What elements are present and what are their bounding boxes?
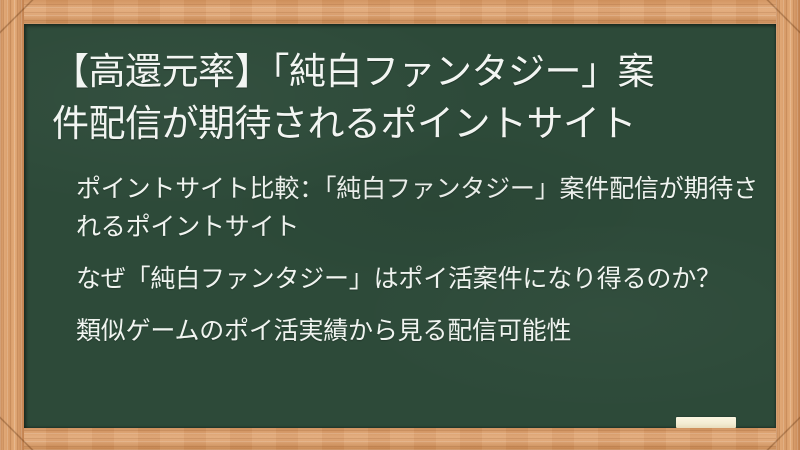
chalkboard-slide: 【高還元率】「純白ファンタジー」案 件配信が期待されるポイントサイト ポイントサ… (0, 0, 800, 450)
list-item: 類似ゲームのポイ活実績から見る配信可能性 (76, 312, 768, 350)
list-item: ポイントサイト比較：「純白ファンタジー」案件配信が期待されるポイントサイト (76, 170, 768, 246)
chalk-eraser (676, 417, 736, 428)
frame-left-rail (0, 0, 24, 450)
slide-outline-list: ポイントサイト比較：「純白ファンタジー」案件配信が期待されるポイントサイト なぜ… (76, 170, 768, 350)
slide-title: 【高還元率】「純白ファンタジー」案 件配信が期待されるポイントサイト (52, 46, 764, 150)
frame-right-rail (776, 0, 800, 450)
frame-bottom-rail (0, 428, 800, 450)
slide-title-line-2: 件配信が期待されるポイントサイト (52, 98, 764, 150)
frame-top-rail (0, 0, 800, 24)
chalkboard-surface: 【高還元率】「純白ファンタジー」案 件配信が期待されるポイントサイト ポイントサ… (24, 24, 776, 428)
list-item: なぜ「純白ファンタジー」はポイ活案件になり得るのか？ (76, 260, 768, 298)
slide-title-line-1: 【高還元率】「純白ファンタジー」案 (52, 46, 764, 98)
